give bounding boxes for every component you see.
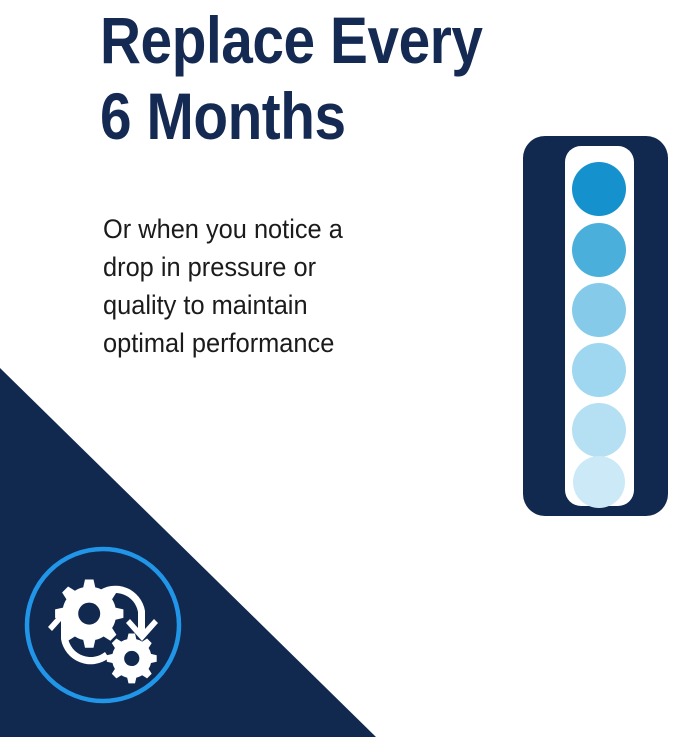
- cartridge-dot-3: [572, 283, 626, 337]
- body-line-3: quality to maintain: [103, 286, 423, 324]
- cartridge-dot-5: [572, 403, 626, 457]
- page-title: Replace Every 6 Months: [100, 2, 504, 154]
- cartridge-dot-4: [572, 343, 626, 397]
- water-filter-cartridge: [520, 132, 676, 520]
- body-copy: Or when you notice a drop in pressure or…: [103, 210, 423, 362]
- promo-graphic: Replace Every 6 Months Or when you notic…: [0, 0, 679, 737]
- replacement-cycle-badge: [23, 545, 183, 705]
- headline-line-1: Replace Every: [100, 2, 504, 78]
- cartridge-dot-6: [573, 456, 625, 508]
- body-line-2: drop in pressure or: [103, 248, 423, 286]
- cartridge-dot-1: [572, 162, 626, 216]
- headline-line-2: 6 Months: [100, 78, 504, 154]
- body-line-1: Or when you notice a: [103, 210, 423, 248]
- body-line-4: optimal performance: [103, 324, 423, 362]
- gears-refresh-cycle-icon: [48, 580, 158, 684]
- cartridge-dot-2: [572, 223, 626, 277]
- small-gear-hub: [124, 651, 139, 666]
- large-gear-hub: [78, 603, 100, 625]
